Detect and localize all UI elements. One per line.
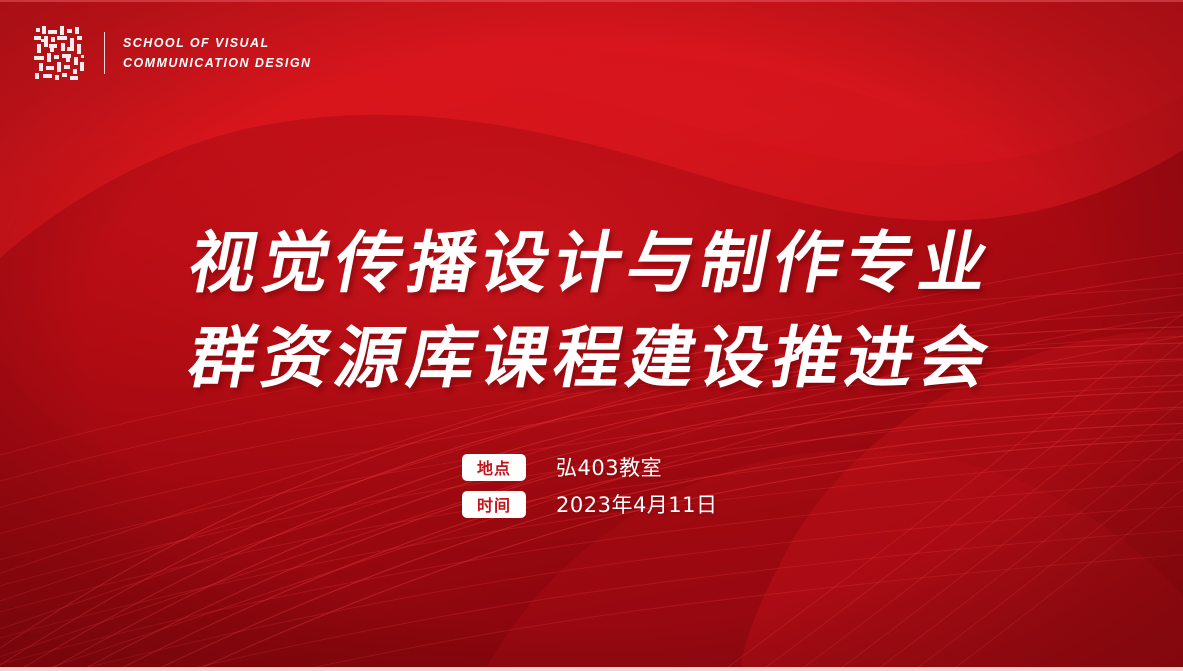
top-edge-accent <box>0 0 1183 2</box>
time-value: 2023年4月11日 <box>556 489 718 519</box>
title-line-1: 视觉传播设计与制作专业 <box>0 216 1183 311</box>
location-value: 弘403教室 <box>556 452 662 482</box>
event-detail-time: 时间 2023年4月11日 <box>462 489 718 519</box>
event-detail-location: 地点 弘403教室 <box>462 452 718 482</box>
event-details: 地点 弘403教室 时间 2023年4月11日 <box>462 452 718 519</box>
location-label-badge: 地点 <box>462 454 526 481</box>
brand-lockup: SCHOOL OF VISUAL COMMUNICATION DESIGN <box>30 22 312 84</box>
time-label-badge: 时间 <box>462 491 526 518</box>
seal-stamp-logo-icon <box>30 22 88 84</box>
org-name: SCHOOL OF VISUAL COMMUNICATION DESIGN <box>123 37 312 69</box>
slide-title: 视觉传播设计与制作专业 群资源库课程建设推进会 <box>0 216 1183 406</box>
bottom-edge-accent <box>0 667 1183 671</box>
org-name-line1: SCHOOL OF VISUAL <box>123 37 312 50</box>
logo-divider <box>104 32 105 74</box>
title-line-2: 群资源库课程建设推进会 <box>0 311 1183 406</box>
presentation-slide: SCHOOL OF VISUAL COMMUNICATION DESIGN 视觉… <box>0 0 1183 671</box>
org-name-line2: COMMUNICATION DESIGN <box>123 57 312 70</box>
